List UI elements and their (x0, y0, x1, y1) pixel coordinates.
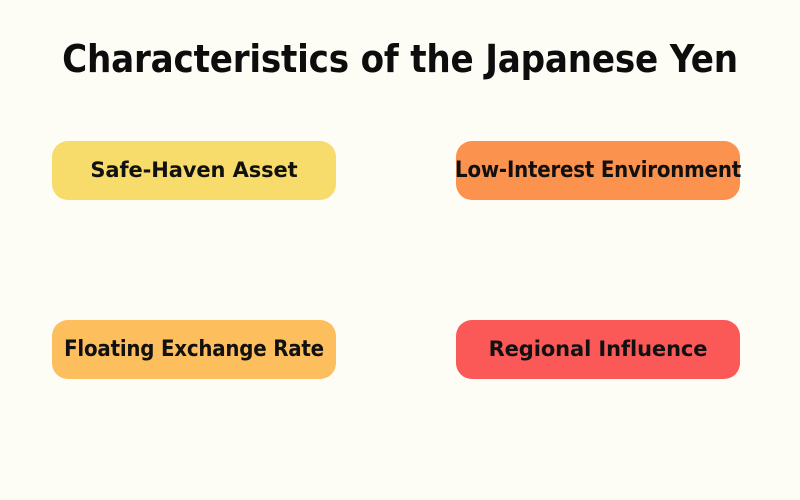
characteristic-card-label: Regional Influence (489, 339, 708, 360)
characteristic-card-label: Safe-Haven Asset (90, 160, 297, 181)
page-title: Characteristics of the Japanese Yen (0, 36, 800, 82)
characteristic-card-low-interest-environment[interactable]: Low-Interest Environment (456, 141, 740, 200)
characteristic-card-regional-influence[interactable]: Regional Influence (456, 320, 740, 379)
characteristic-card-label: Floating Exchange Rate (64, 339, 324, 361)
slide-canvas: Characteristics of the Japanese Yen Safe… (0, 0, 800, 500)
characteristic-card-floating-exchange-rate[interactable]: Floating Exchange Rate (52, 320, 336, 379)
characteristic-card-label: Low-Interest Environment (455, 160, 741, 182)
characteristic-card-safe-haven-asset[interactable]: Safe-Haven Asset (52, 141, 336, 200)
